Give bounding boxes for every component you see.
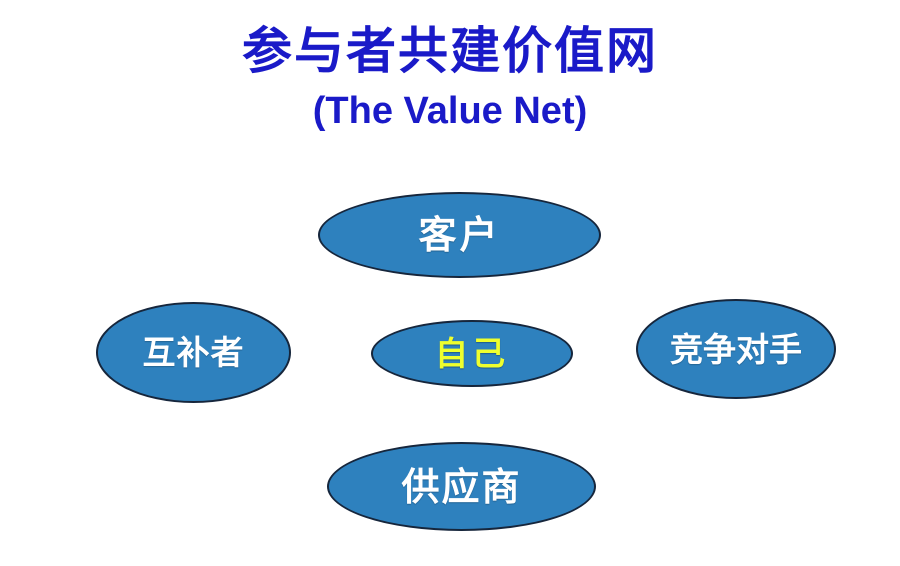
page-title: 参与者共建价值网 [0, 20, 900, 82]
node-complementors-label: 互补者 [143, 336, 245, 369]
node-competitors[interactable]: 竞争对手 [636, 299, 836, 399]
node-suppliers-label: 供应商 [401, 468, 521, 506]
page-subtitle: (The Value Net) [0, 88, 900, 134]
node-customers[interactable]: 客户 [318, 192, 601, 278]
node-self[interactable]: 自己 [371, 320, 573, 387]
node-self-label: 自己 [435, 337, 509, 370]
node-competitors-label: 竞争对手 [670, 333, 802, 366]
node-customers-label: 客户 [418, 216, 500, 254]
slide-canvas: 参与者共建价值网 (The Value Net) 客户 互补者 自己 竞争对手 … [0, 0, 900, 566]
node-complementors[interactable]: 互补者 [96, 302, 291, 403]
title-block: 参与者共建价值网 (The Value Net) [0, 20, 900, 134]
node-suppliers[interactable]: 供应商 [327, 442, 596, 531]
